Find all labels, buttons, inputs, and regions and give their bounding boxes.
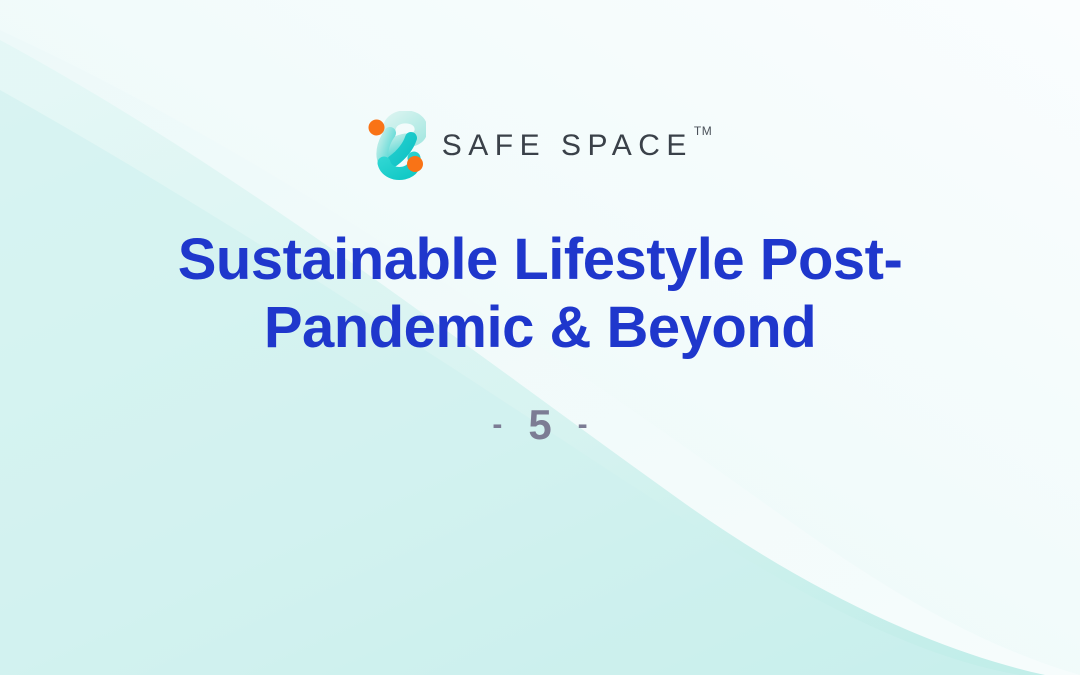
slide-title: Sustainable Lifestyle Post-Pandemic & Be… [140, 226, 940, 362]
page-dash-right: - [578, 410, 588, 440]
brand-wordmark: SAFE SPACE TM [442, 111, 713, 181]
slide-content: SAFE SPACE TM Sustainable Lifestyle Post… [0, 0, 1080, 675]
page-indicator: - 5 - [492, 404, 587, 446]
logo-dot-bottom [407, 156, 423, 172]
page-dash-left: - [492, 410, 502, 440]
brand-wordmark-text: SAFE SPACE [442, 111, 693, 181]
safe-space-s-ribbon-icon [368, 111, 426, 181]
logo-dot-top [368, 120, 384, 136]
brand-logo: SAFE SPACE TM [368, 108, 713, 184]
trademark-symbol: TM [694, 125, 712, 137]
page-number: 5 [528, 404, 551, 446]
slide-canvas: SAFE SPACE TM Sustainable Lifestyle Post… [0, 0, 1080, 675]
